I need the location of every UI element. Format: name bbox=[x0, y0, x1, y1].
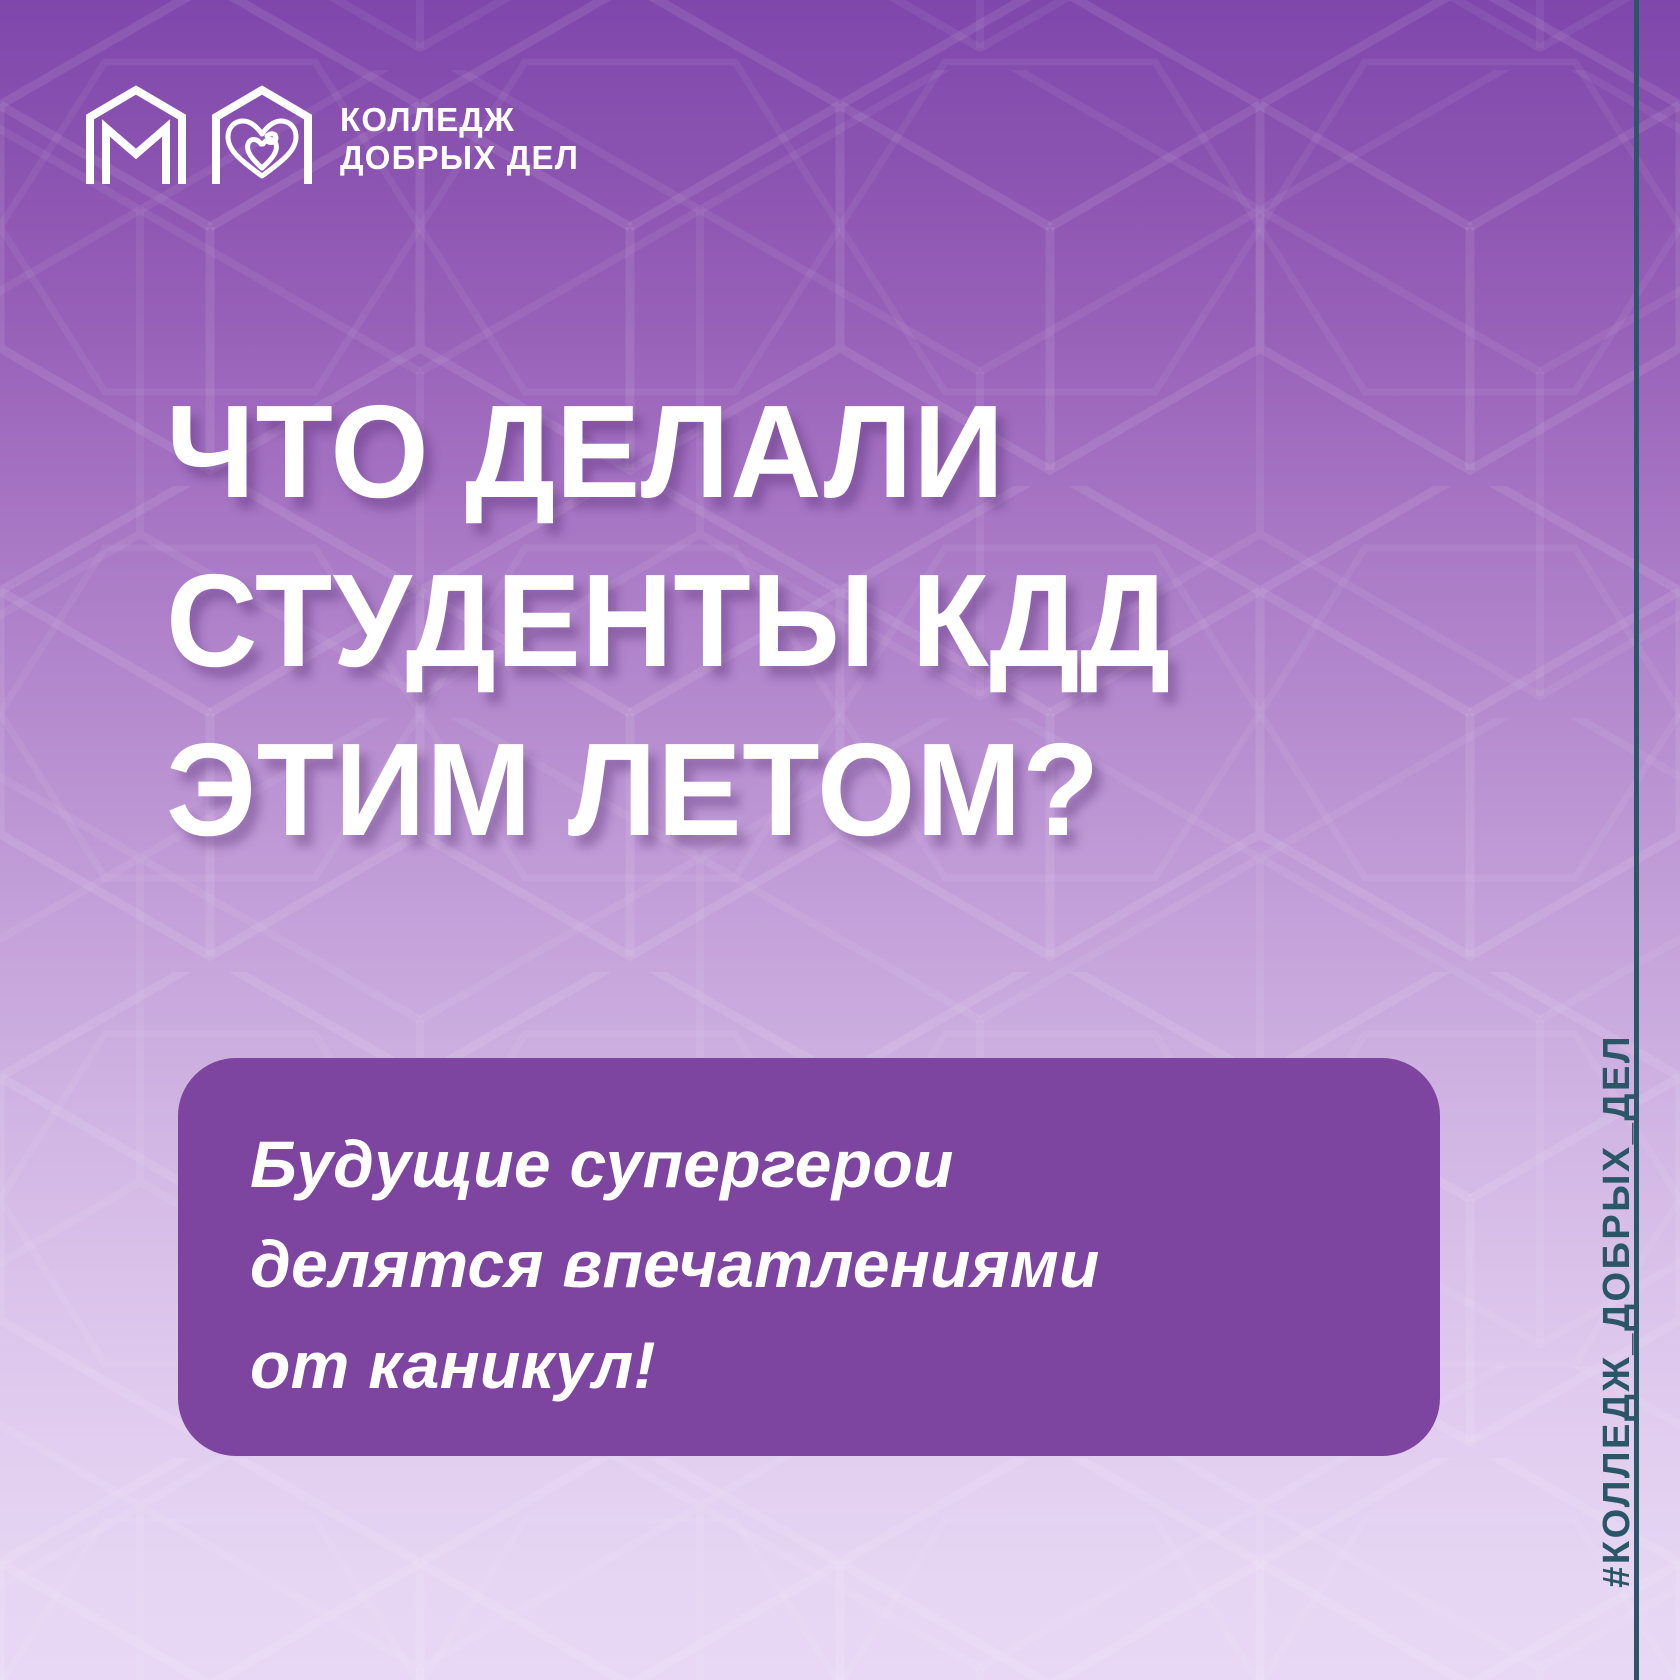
headline: ЧТО ДЕЛАЛИ СТУДЕНТЫ КДД ЭТИМ ЛЕТОМ? bbox=[166, 368, 1506, 875]
logo-wordmark-line-1: КОЛЛЕДЖ bbox=[340, 103, 579, 136]
heart-hands-arch-icon bbox=[210, 84, 314, 193]
poster-canvas: КОЛЛЕДЖ ДОБРЫХ ДЕЛ ЧТО ДЕЛАЛИ СТУДЕНТЫ К… bbox=[0, 0, 1680, 1680]
quote-card: Будущие супергерои делятся впечатлениями… bbox=[178, 1058, 1440, 1456]
brand-logo: КОЛЛЕДЖ ДОБРЫХ ДЕЛ bbox=[84, 84, 579, 193]
quote-line-3: от каникул! bbox=[250, 1315, 1368, 1415]
headline-line-3: ЭТИМ ЛЕТОМ? bbox=[166, 706, 1452, 875]
hashtag-vertical: #КОЛЛЕДЖ_ДОБРЫХ_ДЕЛ bbox=[1596, 1034, 1639, 1588]
headline-line-1: ЧТО ДЕЛАЛИ bbox=[166, 368, 1452, 537]
moscow-m-arch-icon bbox=[84, 84, 188, 193]
logo-wordmark-line-2: ДОБРЫХ ДЕЛ bbox=[340, 141, 579, 174]
logo-wordmark: КОЛЛЕДЖ ДОБРЫХ ДЕЛ bbox=[340, 103, 579, 174]
quote-line-1: Будущие супергерои bbox=[250, 1114, 1368, 1214]
quote-line-2: делятся впечатлениями bbox=[250, 1214, 1368, 1314]
headline-line-2: СТУДЕНТЫ КДД bbox=[166, 537, 1452, 706]
